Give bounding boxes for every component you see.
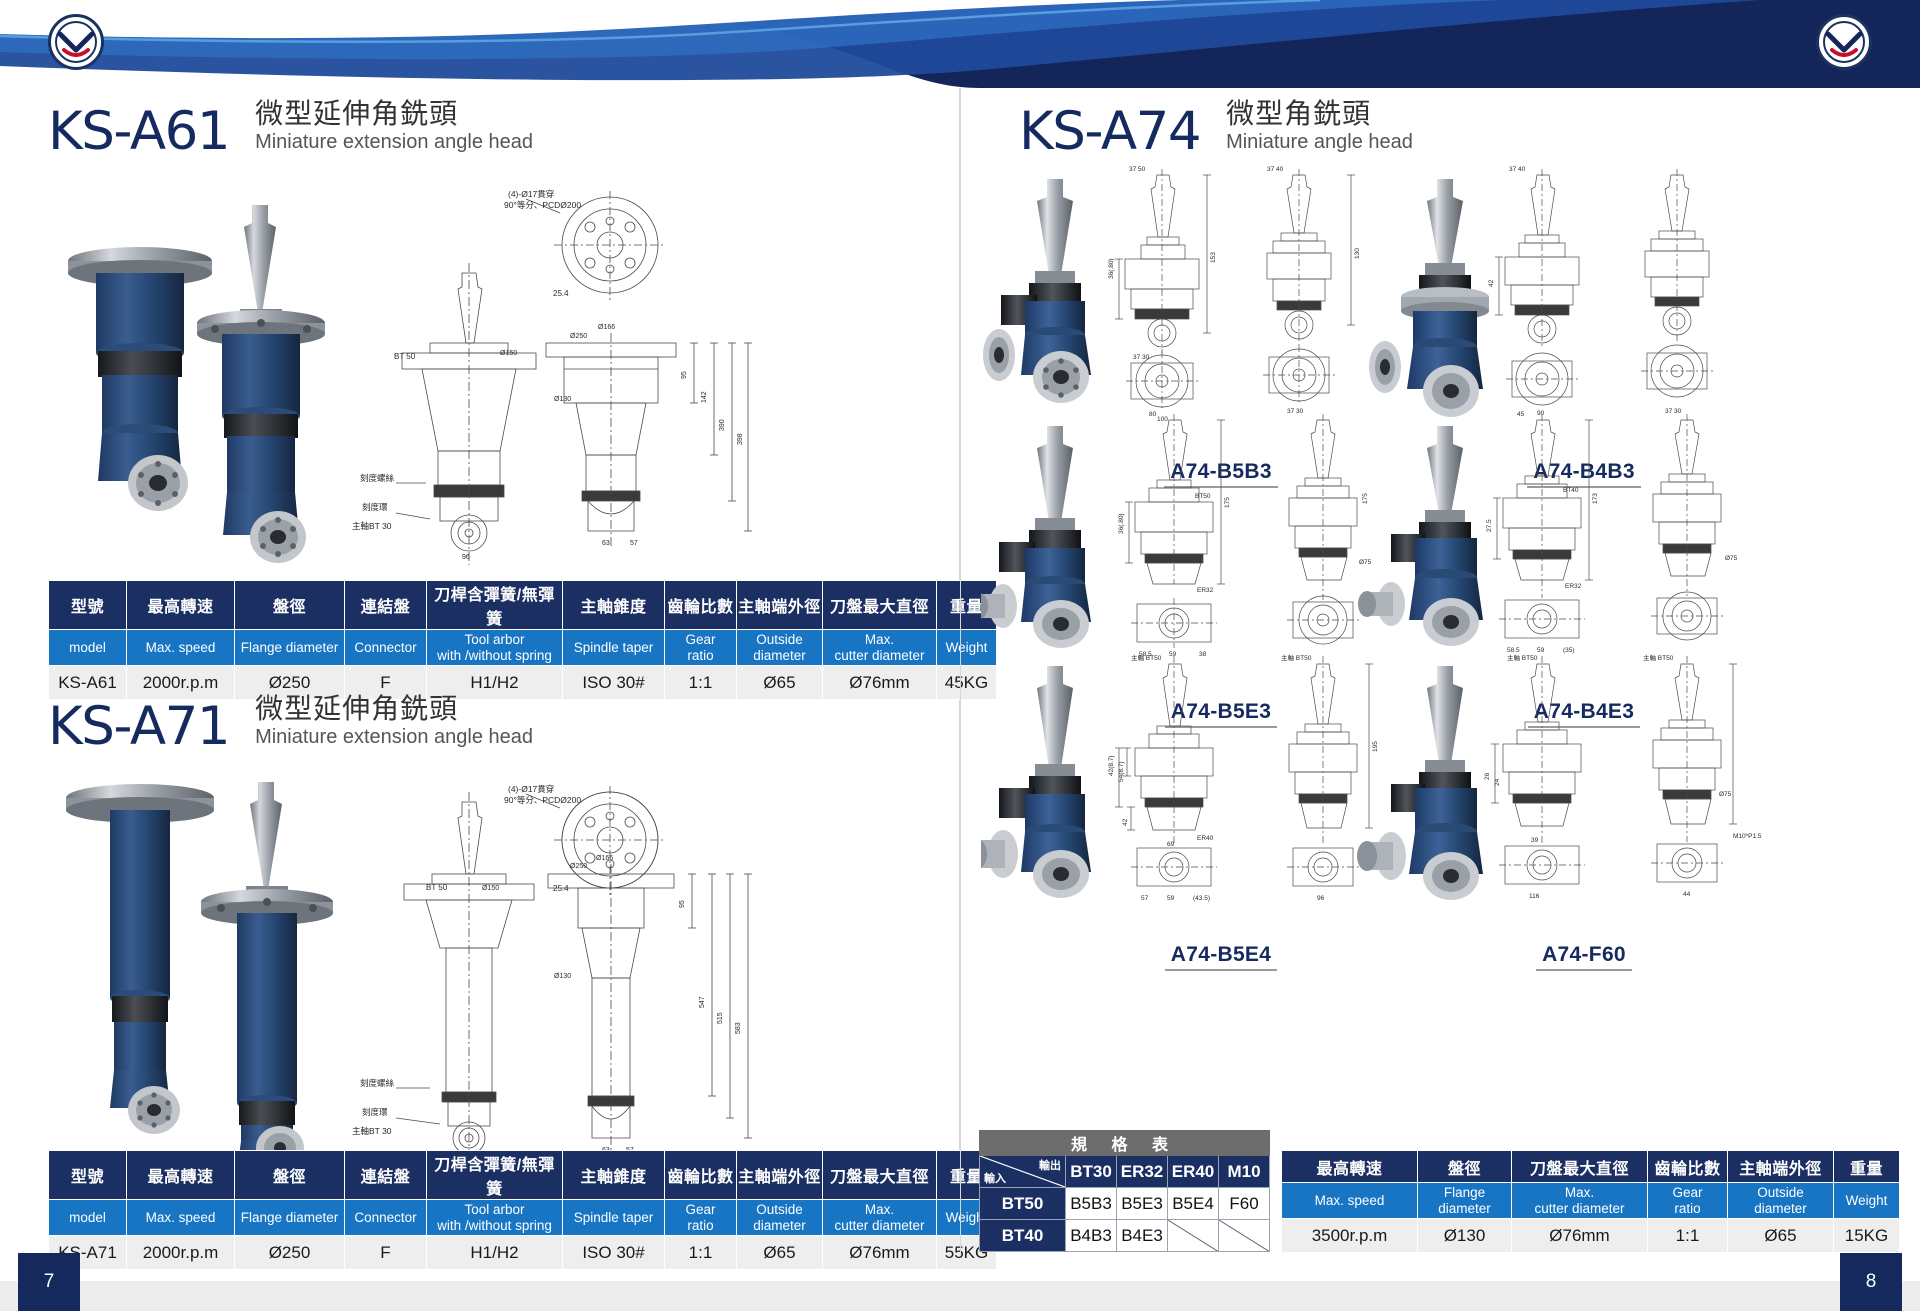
svg-text:M10*P1.5: M10*P1.5 <box>1733 833 1762 840</box>
svg-text:主軸BT 30: 主軸BT 30 <box>352 521 392 531</box>
th-cn-connector: 連結盤 <box>345 1151 427 1200</box>
spec-matrix-a74: 規 格 表 輸出 輸入 BT30 ER32 ER40 M1 <box>979 1130 1270 1252</box>
svg-text:37 40: 37 40 <box>1509 166 1526 173</box>
svg-text:90°等分、PCDØ200: 90°等分、PCDØ200 <box>504 200 581 210</box>
svg-text:95: 95 <box>681 371 688 379</box>
table-row: 3500r.p.m Ø130 Ø76mm 1:1 Ø65 15KG <box>1282 1219 1900 1253</box>
th-en-flange: Flange diameter <box>1418 1183 1512 1219</box>
th-en-gear: Gear ratio <box>665 630 737 666</box>
product-name-en-ks-a71: Miniature extension angle head <box>255 725 533 750</box>
svg-text:刻度環: 刻度環 <box>362 502 388 512</box>
spec-table-ks-a61: 型號 最高轉速 盤徑 連結盤 刀桿含彈簧/無彈簧 主軸錐度 齒輪比數 主軸端外徑… <box>48 580 997 700</box>
svg-text:44: 44 <box>1683 891 1691 898</box>
matrix-title-row: 規 格 表 <box>980 1131 1270 1156</box>
th-en-gear: Gear ratio <box>665 1200 737 1236</box>
th-en-model: model <box>49 1200 127 1236</box>
svg-text:刻度環: 刻度環 <box>362 1107 388 1117</box>
td-max-speed: 3500r.p.m <box>1282 1219 1418 1253</box>
catalog-spread: KS-A61 微型延伸角銑頭 Miniature extension angle… <box>0 0 1920 1311</box>
variant-block-a74-f60: 主軸 BT50 26 24 116 39 <box>1341 648 1781 913</box>
diagonal-slash-icon <box>1219 1220 1269 1251</box>
th-cn-gear: 齒輪比數 <box>665 1151 737 1200</box>
th-cn-gear: 齒輪比數 <box>665 581 737 630</box>
svg-text:69: 69 <box>1167 841 1175 848</box>
th-cn-flange: 盤徑 <box>235 1151 345 1200</box>
drawing-ks-a61-elevation <box>546 333 752 549</box>
photo-ks-a61-front <box>68 247 212 511</box>
svg-text:Ø250: Ø250 <box>570 333 587 340</box>
matrix-row-bt40: BT40 B4B3 B4E3 <box>980 1220 1270 1252</box>
th-cn-flange: 盤徑 <box>235 581 345 630</box>
svg-text:42: 42 <box>1122 818 1129 826</box>
matrix-cell-b4b3: B4B3 <box>1066 1220 1117 1252</box>
td-gear: 1:1 <box>665 666 737 700</box>
svg-text:90°等分、PCDØ200: 90°等分、PCDØ200 <box>504 795 581 805</box>
product-heading-ks-a74: KS-A74 微型角銑頭 Miniature angle head <box>1019 98 1413 158</box>
svg-text:27.5: 27.5 <box>1486 519 1493 532</box>
table-header-row-cn: 型號 最高轉速 盤徑 連結盤 刀桿含彈簧/無彈簧 主軸錐度 齒輪比數 主軸端外徑… <box>49 1151 997 1200</box>
svg-text:42(8.7): 42(8.7) <box>1108 755 1115 776</box>
th-cn-gear: 齒輪比數 <box>1648 1151 1728 1183</box>
th-en-outside: Outside diameter <box>737 1200 823 1236</box>
th-cn-spindle: 主軸錐度 <box>563 1151 665 1200</box>
photo-a74-f60 <box>1357 666 1483 900</box>
svg-text:刻度螺絲: 刻度螺絲 <box>360 473 395 483</box>
matrix-col-er40: ER40 <box>1168 1156 1219 1188</box>
th-en-cutter: Max. cutter diameter <box>823 630 937 666</box>
matrix-col-er32: ER32 <box>1117 1156 1168 1188</box>
table-header-row-en: model Max. speed Flange diameter Connect… <box>49 630 997 666</box>
photo-a74-b4b3 <box>1369 179 1489 417</box>
product-name-cn-ks-a61: 微型延伸角銑頭 <box>255 98 533 130</box>
matrix-cell-b5b3: B5B3 <box>1066 1188 1117 1220</box>
matrix-cell-b5e4: B5E4 <box>1168 1188 1219 1220</box>
th-en-tool-arbor: Tool arbor with /without spring <box>427 1200 563 1236</box>
td-weight: 15KG <box>1834 1219 1900 1253</box>
svg-text:36(.80): 36(.80) <box>1108 258 1115 279</box>
svg-text:45: 45 <box>1517 411 1525 418</box>
svg-text:刻度螺絲: 刻度螺絲 <box>360 1078 395 1088</box>
drawing-a74-b4b3-side <box>1641 169 1713 397</box>
th-en-tool-arbor: Tool arbor with /without spring <box>427 630 563 666</box>
drawing-a74-b4b3 <box>1495 169 1579 405</box>
page-number-right: 8 <box>1840 1253 1902 1311</box>
drawing-a74-f60-side <box>1651 656 1737 882</box>
svg-text:36(.80): 36(.80) <box>1118 513 1125 534</box>
td-gear: 1:1 <box>1648 1219 1728 1253</box>
matrix-row-label-bt50: BT50 <box>980 1188 1066 1220</box>
svg-text:80: 80 <box>1149 411 1157 418</box>
th-en-cutter: Max. cutter diameter <box>823 1200 937 1236</box>
product-code-ks-a74: KS-A74 <box>1019 105 1200 158</box>
th-en-max-speed: Max. speed <box>1282 1183 1418 1219</box>
svg-text:(4)-Ø17貫穿: (4)-Ø17貫穿 <box>508 189 554 199</box>
td-flange: Ø130 <box>1418 1219 1512 1253</box>
page-left: KS-A61 微型延伸角銑頭 Miniature extension angle… <box>0 88 960 1253</box>
illustration-ks-a71: (4)-Ø17貫穿 90°等分、PCDØ200 25.4 <box>30 778 930 1173</box>
svg-text:153: 153 <box>1210 252 1217 263</box>
product-heading-ks-a61: KS-A61 微型延伸角銑頭 Miniature extension angle… <box>48 98 533 158</box>
photo-a74-b4e3 <box>1358 426 1483 646</box>
matrix-cell-b5e3: B5E3 <box>1117 1188 1168 1220</box>
footer-bar <box>0 1281 1920 1311</box>
svg-text:ER40: ER40 <box>1197 835 1214 842</box>
photo-a74-b5b3 <box>983 179 1091 403</box>
product-code-ks-a61: KS-A61 <box>48 105 229 158</box>
svg-text:Ø75: Ø75 <box>1719 791 1732 798</box>
matrix-cell-b4e3: B4E3 <box>1117 1220 1168 1252</box>
table-header-row-en: Max. speed Flange diameter Max. cutter d… <box>1282 1183 1900 1219</box>
td-cutter: Ø76mm <box>823 666 937 700</box>
brand-logo-left <box>48 14 104 70</box>
th-en-flange: Flange diameter <box>235 630 345 666</box>
svg-text:BT40: BT40 <box>1563 487 1579 494</box>
svg-text:37 40: 37 40 <box>1267 166 1284 173</box>
th-cn-weight: 重量 <box>1834 1151 1900 1183</box>
th-en-connector: Connector <box>345 1200 427 1236</box>
svg-text:Ø130: Ø130 <box>554 396 571 403</box>
svg-text:59: 59 <box>1167 895 1175 902</box>
matrix-col-m10: M10 <box>1219 1156 1270 1188</box>
td-outside: Ø65 <box>737 666 823 700</box>
svg-text:24: 24 <box>1494 778 1501 786</box>
table-header-row-cn: 最高轉速 盤徑 刀盤最大直徑 齒輪比數 主軸端外徑 重量 <box>1282 1151 1900 1183</box>
matrix-row-label-bt40: BT40 <box>980 1220 1066 1252</box>
photo-a74-b5e4 <box>981 666 1091 898</box>
svg-text:主軸 BT50: 主軸 BT50 <box>1507 653 1538 662</box>
th-en-outside: Outside diameter <box>737 630 823 666</box>
th-cn-model: 型號 <box>49 1151 127 1200</box>
svg-text:57: 57 <box>630 540 638 547</box>
svg-text:BT50: BT50 <box>1195 493 1211 500</box>
td-spindle: ISO 30# <box>563 666 665 700</box>
svg-text:116: 116 <box>1529 893 1540 900</box>
th-cn-cutter: 刀盤最大直徑 <box>823 581 937 630</box>
matrix-cell-f60: F60 <box>1219 1188 1270 1220</box>
svg-text:Ø75: Ø75 <box>1725 555 1738 562</box>
svg-text:96: 96 <box>462 554 470 561</box>
matrix-corner-output: 輸出 <box>1039 1157 1061 1173</box>
variant-label-a74-f60: A74-F60 <box>1536 943 1632 971</box>
th-cn-flange: 盤徑 <box>1418 1151 1512 1183</box>
page-right: KS-A74 微型角銑頭 Miniature angle head <box>960 88 1920 1253</box>
svg-text:主軸 BT50: 主軸 BT50 <box>1281 653 1312 662</box>
matrix-row-bt50: BT50 B5B3 B5E3 B5E4 F60 <box>980 1188 1270 1220</box>
svg-text:主軸BT 30: 主軸BT 30 <box>352 1126 392 1136</box>
svg-text:主軸 BT50: 主軸 BT50 <box>1643 653 1674 662</box>
svg-text:主軸 BT50: 主軸 BT50 <box>1131 653 1162 662</box>
variant-label-a74-b5e4: A74-B5E4 <box>1165 943 1277 971</box>
brand-logo-right <box>1816 14 1872 70</box>
svg-text:Ø130: Ø130 <box>554 973 571 980</box>
drawing-a74-b4e3 <box>1493 414 1593 638</box>
svg-text:(43.5): (43.5) <box>1193 895 1210 902</box>
svg-text:25.4: 25.4 <box>553 884 569 893</box>
svg-text:39: 39 <box>1531 837 1539 844</box>
svg-text:26: 26 <box>1484 772 1491 780</box>
product-heading-ks-a71: KS-A71 微型延伸角銑頭 Miniature extension angle… <box>48 693 533 753</box>
svg-text:(4)-Ø17貫穿: (4)-Ø17貫穿 <box>508 784 554 794</box>
drawing-a74-b5b3 <box>1115 169 1211 411</box>
table-header-row-en: model Max. speed Flange diameter Connect… <box>49 1200 997 1236</box>
svg-text:BT 50: BT 50 <box>394 352 416 361</box>
th-cn-cutter: 刀盤最大直徑 <box>823 1151 937 1200</box>
svg-text:Ø150: Ø150 <box>482 885 499 892</box>
th-cn-outside: 主軸端外徑 <box>737 1151 823 1200</box>
th-en-cutter: Max. cutter diameter <box>1512 1183 1648 1219</box>
matrix-col-bt30: BT30 <box>1066 1156 1117 1188</box>
th-en-spindle: Spindle taper <box>563 630 665 666</box>
svg-text:398: 398 <box>737 433 744 445</box>
td-outside: Ø65 <box>1728 1219 1834 1253</box>
drawing-a74-b5e3 <box>1125 414 1225 648</box>
top-banner <box>0 0 1920 88</box>
svg-text:BT 50: BT 50 <box>426 883 448 892</box>
product-name-cn-ks-a71: 微型延伸角銑頭 <box>255 693 533 725</box>
th-en-max-speed: Max. speed <box>127 630 235 666</box>
matrix-corner-input: 輸入 <box>984 1170 1006 1186</box>
svg-text:142: 142 <box>701 391 708 403</box>
th-en-spindle: Spindle taper <box>563 1200 665 1236</box>
svg-text:37 50: 37 50 <box>1129 166 1146 173</box>
svg-text:57: 57 <box>1141 895 1149 902</box>
svg-text:63: 63 <box>602 540 610 547</box>
svg-text:ER32: ER32 <box>1565 583 1582 590</box>
th-cn-tool-arbor: 刀桿含彈簧/無彈簧 <box>427 1151 563 1200</box>
drawing-ks-a71-section <box>396 792 534 1168</box>
spec-table-ks-a71: 型號 最高轉速 盤徑 連結盤 刀桿含彈簧/無彈簧 主軸錐度 齒輪比數 主軸端外徑… <box>48 1150 997 1270</box>
matrix-cell-empty-er40 <box>1168 1220 1219 1252</box>
spec-table-ks-a74: 最高轉速 盤徑 刀盤最大直徑 齒輪比數 主軸端外徑 重量 Max. speed … <box>1281 1150 1900 1253</box>
th-cn-spindle: 主軸錐度 <box>563 581 665 630</box>
svg-text:Ø166: Ø166 <box>598 324 615 331</box>
photo-a74-b5e3 <box>981 426 1091 648</box>
drawing-ks-a71-elevation <box>548 864 752 1156</box>
photo-ks-a71-with-arbor <box>201 782 333 1170</box>
product-name-cn-ks-a74: 微型角銑頭 <box>1226 98 1413 130</box>
matrix-cell-empty-m10 <box>1219 1220 1270 1252</box>
product-code-ks-a71: KS-A71 <box>48 700 229 753</box>
page-footer: 7 8 <box>0 1253 1920 1311</box>
svg-text:390: 390 <box>719 419 726 431</box>
matrix-header-row: 輸出 輸入 BT30 ER32 ER40 M10 <box>980 1156 1270 1188</box>
drawing-a74-f60 <box>1491 656 1585 884</box>
drawing-a74-b5e4 <box>1115 656 1217 886</box>
variant-block-a74-b4e3: 45 27.5 173 BT40 ER32 58.5 59 (35) <box>1341 408 1781 673</box>
variant-block-a74-b4b3: 37 40 42 90 <box>1341 163 1781 448</box>
svg-text:Ø150: Ø150 <box>500 350 517 357</box>
th-en-model: model <box>49 630 127 666</box>
svg-text:95: 95 <box>679 900 686 908</box>
svg-text:37 30: 37 30 <box>1133 354 1150 361</box>
th-en-outside: Outside diameter <box>1728 1183 1834 1219</box>
th-cn-tool-arbor: 刀桿含彈簧/無彈簧 <box>427 581 563 630</box>
svg-text:25.4: 25.4 <box>553 289 569 298</box>
th-cn-max-speed: 最高轉速 <box>127 1151 235 1200</box>
photo-ks-a61-with-arbor <box>197 205 325 563</box>
th-en-flange: Flange diameter <box>235 1200 345 1236</box>
page-spread: KS-A61 微型延伸角銑頭 Miniature extension angle… <box>0 88 1920 1253</box>
matrix-corner-cell: 輸出 輸入 <box>980 1156 1066 1188</box>
svg-text:ER32: ER32 <box>1197 587 1214 594</box>
page-number-left: 7 <box>18 1253 80 1311</box>
product-name-en-ks-a74: Miniature angle head <box>1226 130 1413 155</box>
th-cn-outside: 主軸端外徑 <box>1728 1151 1834 1183</box>
svg-text:583: 583 <box>735 1022 742 1034</box>
th-cn-connector: 連結盤 <box>345 581 427 630</box>
th-en-gear: Gear ratio <box>1648 1183 1728 1219</box>
table-header-row-cn: 型號 最高轉速 盤徑 連結盤 刀桿含彈簧/無彈簧 主軸錐度 齒輪比數 主軸端外徑… <box>49 581 997 630</box>
th-cn-max-speed: 最高轉速 <box>1282 1151 1418 1183</box>
svg-text:96: 96 <box>1317 895 1325 902</box>
product-name-en-ks-a61: Miniature extension angle head <box>255 130 533 155</box>
svg-text:Ø166: Ø166 <box>596 855 613 862</box>
svg-text:547: 547 <box>699 996 706 1008</box>
diagonal-slash-icon <box>1168 1220 1218 1251</box>
th-cn-outside: 主軸端外徑 <box>737 581 823 630</box>
th-cn-model: 型號 <box>49 581 127 630</box>
th-cn-max-speed: 最高轉速 <box>127 581 235 630</box>
th-cn-cutter: 刀盤最大直徑 <box>1512 1151 1648 1183</box>
th-en-max-speed: Max. speed <box>127 1200 235 1236</box>
drawing-ks-a61-section <box>396 263 536 565</box>
svg-text:42: 42 <box>1488 279 1495 287</box>
th-en-weight: Weight <box>1834 1183 1900 1219</box>
svg-text:175: 175 <box>1224 497 1231 508</box>
svg-text:54(8.7): 54(8.7) <box>1118 761 1125 782</box>
illustration-ks-a61: (4)-Ø17貫穿 90°等分、PCDØ200 25.4 <box>30 183 930 568</box>
photo-ks-a71-front <box>66 784 214 1134</box>
svg-text:Ø250: Ø250 <box>570 863 587 870</box>
matrix-title: 規 格 表 <box>980 1131 1270 1156</box>
svg-text:515: 515 <box>717 1012 724 1024</box>
svg-text:173: 173 <box>1592 493 1599 504</box>
drawing-a74-b4e3-side <box>1651 414 1723 640</box>
th-en-connector: Connector <box>345 630 427 666</box>
td-cutter: Ø76mm <box>1512 1219 1648 1253</box>
